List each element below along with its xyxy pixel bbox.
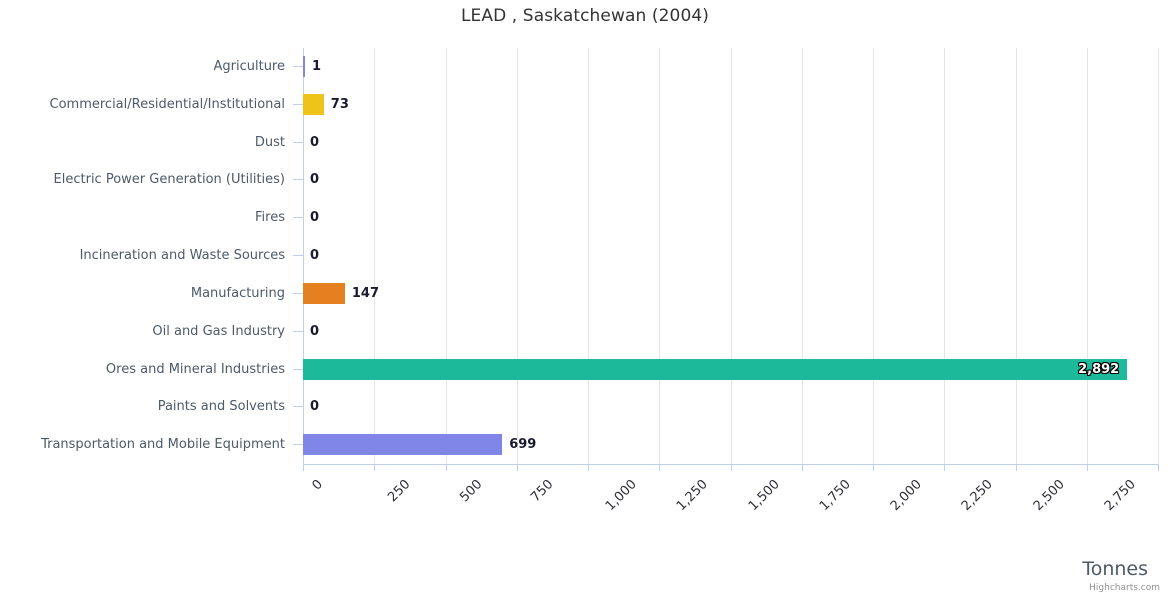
bar[interactable] [303, 359, 1127, 380]
highcharts-credit: Highcharts.com [1089, 583, 1160, 593]
bar-row: Fires0 [0, 199, 1170, 237]
category-tick [293, 369, 303, 370]
category-tick [293, 66, 303, 67]
category-label: Fires [0, 210, 285, 225]
category-tick [293, 255, 303, 256]
chart-container: LEAD , Saskatchewan (2004) Agriculture1C… [0, 0, 1170, 600]
category-tick [293, 331, 303, 332]
bar-row: Commercial/Residential/Institutional73 [0, 86, 1170, 124]
x-tick [1158, 465, 1159, 471]
x-tick [1087, 465, 1088, 471]
x-tick [873, 465, 874, 471]
x-tick-label: 2,000 [888, 477, 925, 514]
x-tick [802, 465, 803, 471]
category-label: Electric Power Generation (Utilities) [0, 172, 285, 187]
x-tick-label: 1,750 [817, 477, 854, 514]
bar-row: Oil and Gas Industry0 [0, 313, 1170, 351]
category-label: Dust [0, 135, 285, 150]
bar[interactable] [303, 434, 502, 455]
chart-title: LEAD , Saskatchewan (2004) [0, 6, 1170, 26]
x-tick [1016, 465, 1017, 471]
bar[interactable] [303, 283, 345, 304]
category-tick [293, 104, 303, 105]
x-tick-label: 2,500 [1030, 477, 1067, 514]
data-label: 0 [310, 248, 319, 263]
category-label: Paints and Solvents [0, 399, 285, 414]
category-tick [293, 406, 303, 407]
x-tick-label: 2,250 [959, 477, 996, 514]
data-label: 147 [352, 286, 379, 301]
data-label: 0 [310, 399, 319, 414]
data-label: 0 [310, 172, 319, 187]
bar-row: Agriculture1 [0, 48, 1170, 86]
category-label: Ores and Mineral Industries [0, 362, 285, 377]
category-tick [293, 142, 303, 143]
category-tick [293, 179, 303, 180]
x-tick-label: 750 [528, 477, 556, 505]
bar-row: Ores and Mineral Industries2,892 [0, 351, 1170, 389]
data-label: 0 [310, 135, 319, 150]
x-tick-label: 1,500 [745, 477, 782, 514]
data-label: 73 [331, 97, 349, 112]
x-tick-label: 1,250 [674, 477, 711, 514]
data-label: 0 [310, 324, 319, 339]
x-tick-label: 0 [309, 477, 325, 493]
x-tick-label: 2,750 [1102, 477, 1139, 514]
bar-row: Manufacturing147 [0, 275, 1170, 313]
bar-row: Incineration and Waste Sources0 [0, 237, 1170, 275]
data-label: 0 [310, 210, 319, 225]
x-tick-label: 1,000 [603, 477, 640, 514]
x-tick-label: 500 [457, 477, 485, 505]
x-tick [588, 465, 589, 471]
x-tick [517, 465, 518, 471]
bar[interactable] [303, 94, 324, 115]
x-tick [944, 465, 945, 471]
category-tick [293, 217, 303, 218]
category-label: Agriculture [0, 59, 285, 74]
category-label: Incineration and Waste Sources [0, 248, 285, 263]
category-tick [293, 444, 303, 445]
data-label: 1 [312, 59, 321, 74]
x-tick [374, 465, 375, 471]
bar-row: Paints and Solvents0 [0, 388, 1170, 426]
category-tick [293, 293, 303, 294]
category-label: Manufacturing [0, 286, 285, 301]
category-label: Commercial/Residential/Institutional [0, 97, 285, 112]
bar-row: Electric Power Generation (Utilities)0 [0, 161, 1170, 199]
x-tick [446, 465, 447, 471]
x-tick [303, 465, 304, 471]
category-label: Transportation and Mobile Equipment [0, 437, 285, 452]
x-tick [659, 465, 660, 471]
bar[interactable] [303, 56, 305, 77]
data-label: 2,892 [1078, 362, 1119, 377]
x-tick [731, 465, 732, 471]
bar-row: Transportation and Mobile Equipment699 [0, 426, 1170, 464]
bar-row: Dust0 [0, 124, 1170, 162]
x-tick-label: 250 [386, 477, 414, 505]
data-label: 699 [509, 437, 536, 452]
category-label: Oil and Gas Industry [0, 324, 285, 339]
x-axis-title: Tonnes [1082, 558, 1148, 580]
